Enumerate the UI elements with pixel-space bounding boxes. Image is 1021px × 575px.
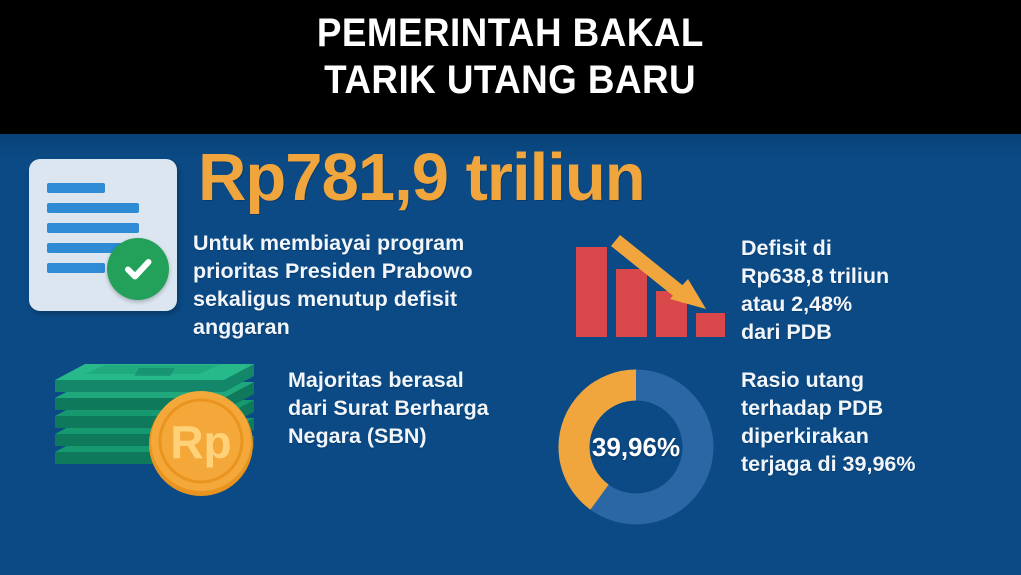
- header-title-band: PEMERINTAH BAKAL TARIK UTANG BARU: [0, 0, 1021, 136]
- defisit-description-text: Defisit di Rp638,8 triliun atau 2,48% da…: [741, 235, 1016, 347]
- document-text-line: [47, 223, 139, 233]
- infographic-panel: Rp781,9 triliun Untuk membiayai program …: [0, 134, 1021, 575]
- document-text-line: [47, 183, 105, 193]
- sbn-description-text: Majoritas berasal dari Surat Berharga Ne…: [288, 367, 558, 451]
- document-check-icon: [29, 159, 177, 311]
- donut-chart-icon: [551, 362, 721, 532]
- rasio-description-text: Rasio utang terhadap PDB diperkirakan te…: [741, 367, 1016, 479]
- program-description-text: Untuk membiayai program prioritas Presid…: [193, 230, 533, 342]
- infographic-screenshot: PEMERINTAH BAKAL TARIK UTANG BARU Rp781,…: [0, 0, 1021, 575]
- declining-bar-chart-arrow-icon: [570, 229, 730, 344]
- check-circle-icon: [107, 238, 169, 300]
- headline-line-1: PEMERINTAH BAKAL: [317, 10, 704, 57]
- document-text-line: [47, 263, 105, 273]
- document-text-line: [47, 203, 139, 213]
- headline-amount: Rp781,9 triliun: [198, 144, 645, 211]
- money-stack-rupiah-icon: Rp: [49, 356, 273, 496]
- svg-text:Rp: Rp: [170, 416, 231, 468]
- headline-line-2: TARIK UTANG BARU: [325, 57, 697, 104]
